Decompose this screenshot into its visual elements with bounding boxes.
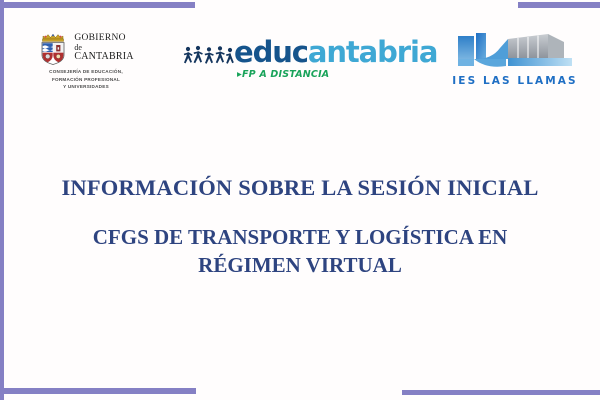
- accent-bar-top-right: [518, 2, 600, 8]
- cantabria-wordmark: GOBIERNO de CANTABRIA: [74, 34, 133, 62]
- accent-bar-bottom-right: [402, 390, 600, 395]
- cantabria-subtitle-line-3: Y UNIVERSIDADES: [22, 83, 150, 91]
- cantabria-logo-top: GOBIERNO de CANTABRIA: [22, 32, 150, 65]
- ies-las-llamas-text: IES LAS LLAMAS: [452, 75, 578, 87]
- page-title: INFORMACIÓN SOBRE LA SESIÓN INICIAL: [0, 176, 600, 201]
- slide-title-block: INFORMACIÓN SOBRE LA SESIÓN INICIAL CFGS…: [0, 176, 600, 279]
- cantabria-gobierno-text: GOBIERNO: [74, 34, 133, 44]
- slide-subtitle-line-2: RÉGIMEN VIRTUAL: [34, 251, 566, 279]
- educantabria-wordmark: educantabria: [234, 36, 437, 69]
- accent-bar-bottom-left: [0, 388, 196, 394]
- building-icon: [452, 32, 578, 74]
- fp-a-distancia-tagline: ▸FP A DISTANCIA: [237, 69, 329, 80]
- accent-bar-top-left: [0, 2, 195, 8]
- ies-las-llamas-logo: IES LAS LLAMAS: [452, 32, 578, 94]
- educantabria-word-part-2: antabria: [308, 35, 437, 69]
- presentation-slide: GOBIERNO de CANTABRIA CONSEJERÍA DE EDUC…: [0, 0, 600, 400]
- gobierno-de-cantabria-logo: GOBIERNO de CANTABRIA CONSEJERÍA DE EDUC…: [22, 32, 150, 100]
- running-children-icon: [182, 44, 234, 70]
- coat-of-arms-icon: [38, 32, 68, 65]
- logo-row: GOBIERNO de CANTABRIA CONSEJERÍA DE EDUC…: [0, 28, 600, 100]
- slide-subtitle: CFGS DE TRANSPORTE Y LOGÍSTICA EN RÉGIME…: [0, 223, 600, 280]
- educantabria-logo: educantabria ▸FP A DISTANCIA: [182, 36, 410, 94]
- cantabria-subtitle-line-1: CONSEJERÍA DE EDUCACIÓN,: [22, 68, 150, 76]
- cantabria-department-subtitle: CONSEJERÍA DE EDUCACIÓN, FORMACIÓN PROFE…: [22, 68, 150, 91]
- cantabria-subtitle-line-2: FORMACIÓN PROFESIONAL: [22, 76, 150, 84]
- educantabria-word-part-1: educ: [234, 35, 308, 69]
- cantabria-cantabria-text: CANTABRIA: [74, 52, 133, 62]
- slide-subtitle-line-1: CFGS DE TRANSPORTE Y LOGÍSTICA EN: [34, 223, 566, 251]
